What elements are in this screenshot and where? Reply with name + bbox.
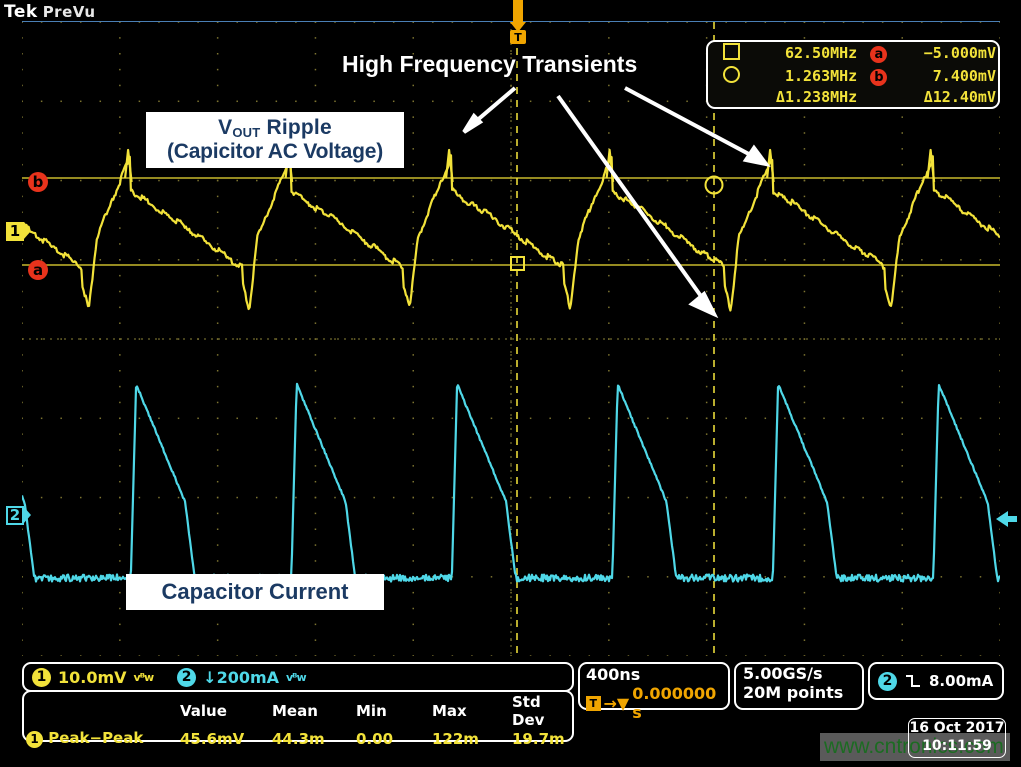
measurement-max: 122m <box>430 729 510 750</box>
cursor-a-frequency: 62.50MHz <box>756 42 860 65</box>
cursor-delta-voltage: Δ12.40mV <box>899 88 998 108</box>
channel-2-badge[interactable]: 2 <box>177 668 196 687</box>
acquisition-panel[interactable]: 5.00GS/s 20M points <box>734 662 864 710</box>
trigger-badge-icon: T <box>586 696 601 711</box>
measurement-header-stddev: Std Dev <box>510 692 572 729</box>
measurement-header-min: Min <box>354 692 430 729</box>
vout-label-sub: OUT <box>232 125 260 140</box>
cursor-marker-a[interactable]: a <box>28 260 48 280</box>
annotation-capacitor-current: Capacitor Current <box>126 574 384 610</box>
cursor-delta-spacer2 <box>859 88 898 108</box>
trigger-level: 8.00mA <box>929 672 993 690</box>
channel-1-marker-label: 1 <box>6 222 24 241</box>
cursor-b-badge: b <box>859 65 898 88</box>
measurement-mean: 44.3m <box>270 729 354 750</box>
timebase-panel[interactable]: 400ns T →▼ 0.000000 s <box>578 662 730 710</box>
time-text: 10:11:59 <box>909 738 1005 756</box>
vout-label-v: V <box>218 116 232 139</box>
trigger-source-badge[interactable]: 2 <box>878 672 897 691</box>
channel-1-scale[interactable]: 10.0mV <box>58 668 127 687</box>
sample-rate: 5.00GS/s <box>736 664 862 683</box>
measurement-channel-badge: 1 <box>26 731 43 748</box>
cursor-symbol-square <box>708 42 756 65</box>
trigger-arrow-icon: →▼ <box>604 694 630 713</box>
cursor-b-voltage: 7.400mV <box>899 65 998 88</box>
oscilloscope-screen: TekPreVu <box>0 0 1021 767</box>
channel-settings-bar: 1 10.0mV ᴠᴮᴡ 2 ↓200mA ᴠᴮᴡ <box>22 662 574 692</box>
trigger-position-marker[interactable]: T <box>506 0 530 46</box>
timebase-position: 0.000000 s <box>632 684 728 722</box>
channel-2-reference-marker[interactable]: 2 <box>6 506 28 525</box>
acquisition-mode-label: PreVu <box>43 3 96 21</box>
measurement-name: 1 Peak−Peak <box>24 729 178 750</box>
annotation-high-frequency-transients: High Frequency Transients <box>342 52 637 78</box>
brand-label: Tek <box>4 2 38 22</box>
record-length: 20M points <box>736 683 862 702</box>
measurement-header-name <box>24 692 178 729</box>
channel-2-bandwidth-icon: ᴠᴮᴡ <box>286 671 306 684</box>
timebase-position-row: T →▼ 0.000000 s <box>580 684 728 722</box>
channel-1-bandwidth-icon: ᴠᴮᴡ <box>134 671 154 684</box>
measurement-header-max: Max <box>430 692 510 729</box>
datetime-display: 16 Oct 2017 10:11:59 <box>908 718 1006 758</box>
measurement-header-row: Value Mean Min Max Std Dev <box>24 692 572 729</box>
measurement-stddev: 19.7m <box>510 729 572 750</box>
date-text: 16 Oct 2017 <box>909 720 1005 738</box>
measurement-min: 0.00 <box>354 729 430 750</box>
measurement-header-value: Value <box>178 692 270 729</box>
measurement-value: 45.6mV <box>178 729 270 750</box>
timebase-scale: 400ns <box>580 664 728 684</box>
trigger-panel[interactable]: 2 8.00mA <box>868 662 1004 700</box>
channel-2-marker-label: 2 <box>6 506 24 525</box>
measurement-row: 1 Peak−Peak 45.6mV 44.3m 0.00 122m 19.7m <box>24 729 572 750</box>
annotation-arrows <box>440 78 780 328</box>
scope-header: TekPreVu <box>4 2 96 22</box>
channel-1-badge[interactable]: 1 <box>32 668 51 687</box>
channel-2-scale[interactable]: ↓200mA <box>203 668 279 687</box>
channel-1-reference-marker[interactable]: 1 <box>6 222 28 241</box>
cursor-marker-b[interactable]: b <box>28 172 48 192</box>
falling-edge-icon <box>905 674 921 688</box>
annotation-vout-ripple: VOUT Ripple (Capicitor AC Voltage) <box>146 112 404 168</box>
cursor-a-badge: a <box>859 42 898 65</box>
measurement-table: Value Mean Min Max Std Dev 1 Peak−Peak 4… <box>22 690 574 742</box>
cursor-row-a: 62.50MHz a −5.000mV <box>708 42 998 65</box>
measurement-label: Peak−Peak <box>48 729 143 747</box>
trigger-level-marker[interactable] <box>996 508 1018 530</box>
measurement-header-mean: Mean <box>270 692 354 729</box>
vout-label-ripple: Ripple <box>260 116 331 139</box>
cursor-a-voltage: −5.000mV <box>899 42 998 65</box>
svg-text:T: T <box>514 31 522 44</box>
vout-label-sub-caption: (Capicitor AC Voltage) <box>167 140 383 164</box>
